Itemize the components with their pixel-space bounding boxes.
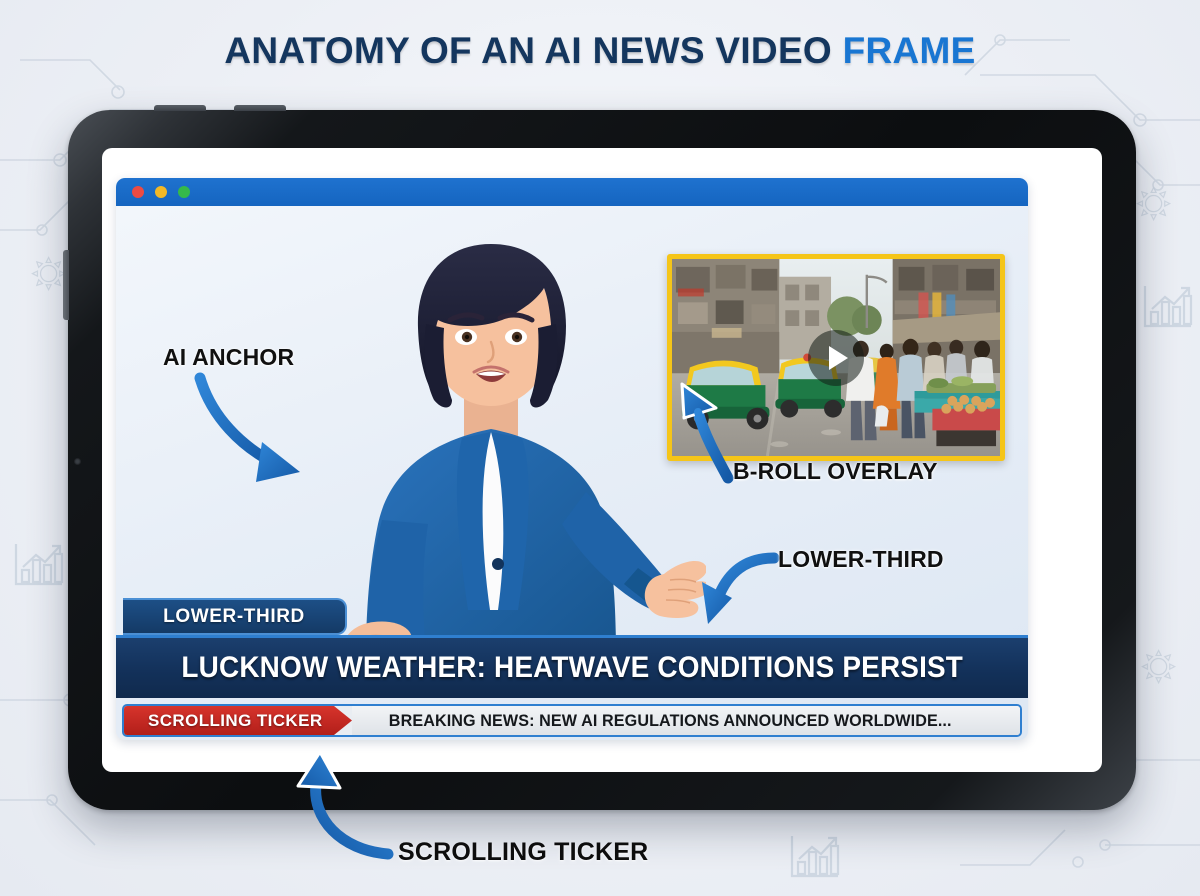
- ticker-tag-label: SCROLLING TICKER: [148, 711, 323, 731]
- page-title: ANATOMY OF AN AI NEWS VIDEO FRAME: [0, 30, 1200, 72]
- lower-third-banner: LUCKNOW WEATHER: HEATWAVE CONDITIONS PER…: [116, 635, 1028, 698]
- lower-third-arrow: [702, 558, 774, 624]
- play-icon[interactable]: [808, 330, 864, 386]
- maximize-dot[interactable]: [178, 186, 190, 198]
- lower-third-headline: LUCKNOW WEATHER: HEATWAVE CONDITIONS PER…: [181, 651, 963, 685]
- annotation-lower-third: LOWER-THIRD: [778, 546, 944, 573]
- volume-up-button[interactable]: [154, 105, 206, 111]
- close-dot[interactable]: [132, 186, 144, 198]
- annotation-scrolling-ticker: SCROLLING TICKER: [398, 838, 648, 867]
- lower-third-tab-label: LOWER-THIRD: [163, 606, 305, 628]
- power-button[interactable]: [74, 458, 81, 465]
- tablet-device: AI ANCHOR B-ROLL OVERLAY LOWER-THIRD LOW…: [68, 110, 1136, 810]
- lower-third-tab-badge: LOWER-THIRD: [123, 598, 347, 635]
- browser-window: AI ANCHOR B-ROLL OVERLAY LOWER-THIRD LOW…: [116, 178, 1028, 740]
- ai-anchor-illustration: [286, 224, 706, 654]
- page-title-primary: ANATOMY OF AN AI NEWS VIDEO: [224, 30, 832, 71]
- browser-chrome-bar: [116, 178, 1028, 206]
- video-frame-stage: AI ANCHOR B-ROLL OVERLAY LOWER-THIRD LOW…: [116, 206, 1028, 740]
- annotation-ai-anchor: AI ANCHOR: [163, 344, 294, 371]
- annotation-b-roll: B-ROLL OVERLAY: [733, 458, 938, 485]
- ticker-text: BREAKING NEWS: NEW AI REGULATIONS ANNOUN…: [389, 711, 952, 731]
- scrolling-ticker-bar: SCROLLING TICKER BREAKING NEWS: NEW AI R…: [122, 704, 1022, 737]
- tablet-screen: AI ANCHOR B-ROLL OVERLAY LOWER-THIRD LOW…: [102, 148, 1102, 772]
- ticker-text-area: BREAKING NEWS: NEW AI REGULATIONS ANNOUN…: [352, 706, 1020, 735]
- ticker-tag: SCROLLING TICKER: [124, 706, 352, 735]
- volume-down-button[interactable]: [234, 105, 286, 111]
- b-roll-video-thumbnail[interactable]: [667, 254, 1005, 461]
- minimize-dot[interactable]: [155, 186, 167, 198]
- ai-anchor-arrow: [200, 378, 300, 482]
- page-title-accent: FRAME: [843, 30, 976, 71]
